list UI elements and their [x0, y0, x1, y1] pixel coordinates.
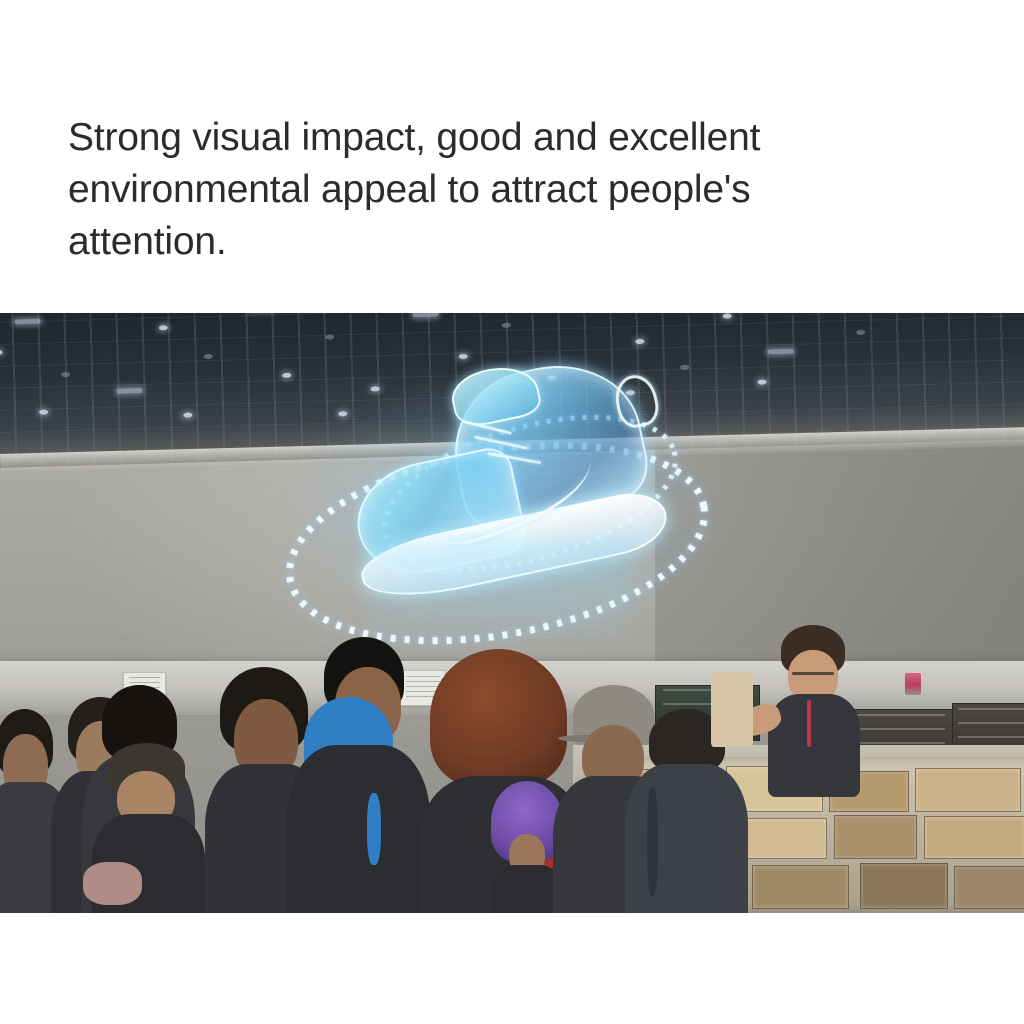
hair	[430, 649, 568, 787]
shoe-box	[924, 816, 1024, 859]
slide-root: Strong visual impact, good and excellent…	[0, 0, 1024, 1024]
hologram-projection	[262, 365, 732, 665]
backpack-strap	[647, 787, 658, 896]
store-photo	[0, 313, 1024, 913]
shoe-box	[954, 866, 1024, 909]
jacket-stripe	[367, 793, 381, 865]
shopper-blue-hood	[287, 637, 430, 913]
torso	[768, 694, 860, 797]
shopper-beanie	[92, 739, 205, 913]
glasses	[792, 672, 834, 675]
torso	[625, 764, 748, 913]
shoe-box	[834, 815, 918, 859]
shoe-box	[860, 863, 948, 909]
caption-line-1: Strong visual impact, good and excellent	[68, 112, 948, 164]
torso	[287, 745, 430, 913]
shoe-box	[915, 768, 1020, 812]
scarf	[83, 862, 142, 906]
paper-bag	[711, 672, 753, 747]
shoe-box	[752, 865, 849, 909]
caption-line-3: attention.	[68, 216, 948, 268]
lanyard	[807, 700, 811, 747]
exit-sign	[905, 673, 921, 695]
store-clerk	[768, 625, 860, 781]
shoe-box	[735, 818, 827, 859]
caption-block: Strong visual impact, good and excellent…	[68, 112, 948, 268]
caption-line-2: environmental appeal to attract people's	[68, 164, 948, 216]
